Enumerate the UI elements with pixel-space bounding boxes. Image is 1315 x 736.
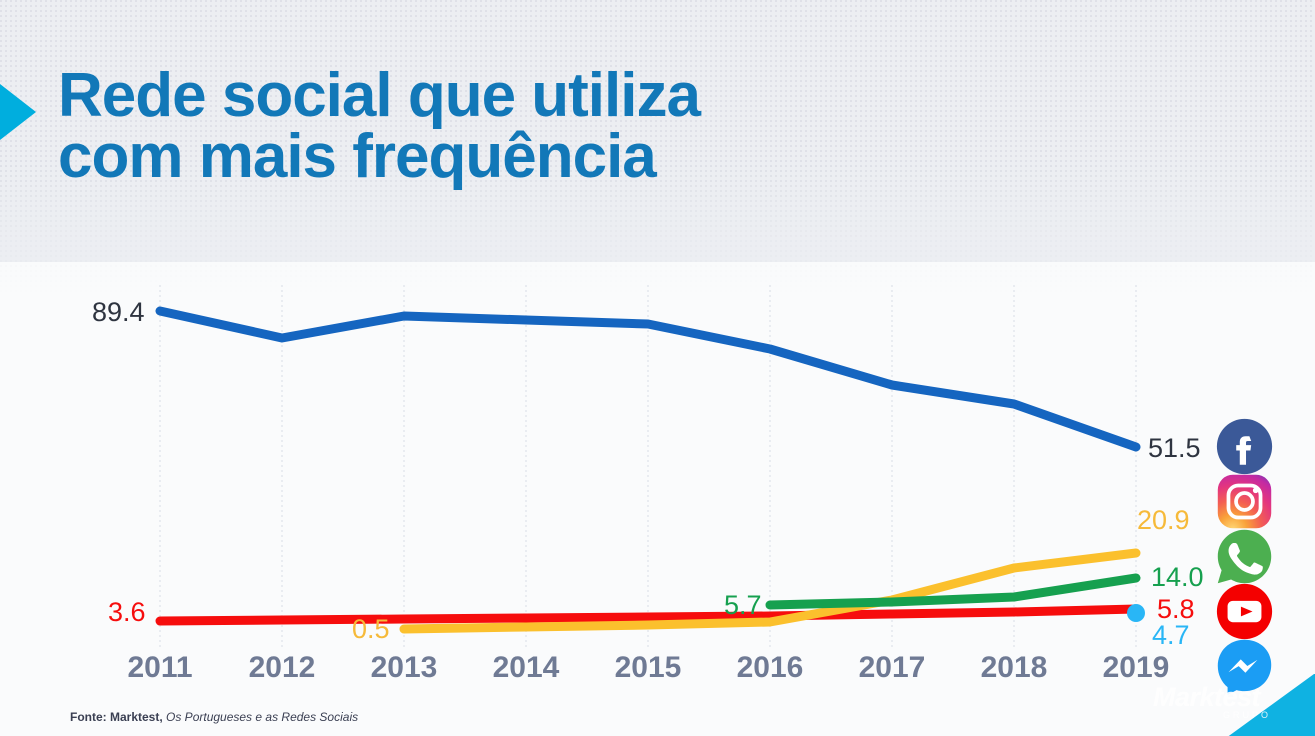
label-facebook-end: 51.5 — [1148, 433, 1201, 464]
series-point-messenger — [1127, 604, 1145, 622]
label-whatsapp-start: 5.7 — [724, 590, 762, 621]
label-instagram-start: 0.5 — [352, 614, 390, 645]
x-tick-2018: 2018 — [981, 651, 1048, 685]
marktest-logo: Marktest — [1153, 682, 1260, 713]
x-tick-2017: 2017 — [859, 651, 926, 685]
instagram-icon — [1216, 473, 1273, 530]
x-tick-2016: 2016 — [737, 651, 804, 685]
x-tick-2014: 2014 — [493, 651, 560, 685]
label-youtube-start: 3.6 — [108, 597, 146, 628]
x-tick-2015: 2015 — [615, 651, 682, 685]
label-whatsapp-end: 14.0 — [1151, 562, 1204, 593]
brand-corner: Marktest GRUPO — [1145, 674, 1315, 736]
whatsapp-icon — [1216, 528, 1273, 585]
x-tick-2011: 2011 — [127, 651, 192, 685]
youtube-icon — [1216, 583, 1273, 640]
label-instagram-end: 20.9 — [1137, 505, 1190, 536]
source-prefix: Fonte: Marktest, — [70, 710, 166, 724]
label-messenger-end: 4.7 — [1152, 620, 1190, 651]
source-title: Os Portugueses e as Redes Sociais — [166, 710, 358, 724]
marktest-logo-sub: GRUPO — [1223, 710, 1271, 720]
label-facebook-start: 89.4 — [92, 297, 145, 328]
x-axis: 2011 2012 2013 2014 2015 2016 2017 2018 … — [0, 651, 1315, 691]
x-tick-2012: 2012 — [249, 651, 316, 685]
x-tick-2013: 2013 — [371, 651, 438, 685]
source-note: Fonte: Marktest, Os Portugueses e as Red… — [70, 710, 358, 724]
line-chart — [0, 0, 1315, 736]
facebook-icon — [1216, 418, 1273, 475]
